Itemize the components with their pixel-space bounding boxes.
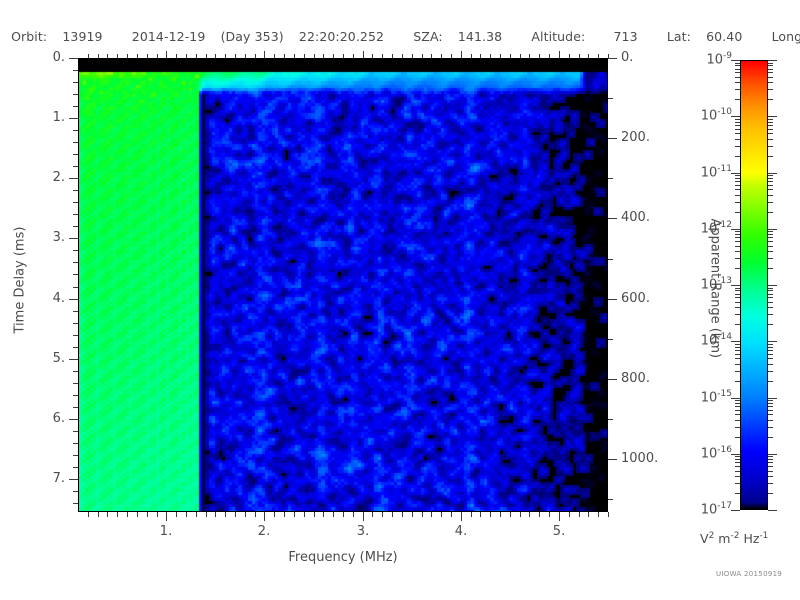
axis-tick — [137, 54, 138, 58]
colorbar-tick — [735, 483, 740, 484]
observation-time: 22:20:20.252 — [299, 29, 384, 44]
colorbar-tick — [768, 427, 773, 428]
axis-tick — [520, 512, 521, 517]
altitude-value: 713 — [613, 29, 637, 44]
axis-tick — [186, 512, 187, 517]
colorbar-tick — [768, 341, 777, 342]
axis-tick — [88, 54, 89, 58]
colorbar-tick — [768, 297, 773, 298]
axis-tick — [196, 512, 197, 517]
unit-meters-exponent: -2 — [730, 531, 739, 541]
colorbar-tick — [768, 466, 773, 467]
colorbar-tick — [768, 302, 773, 303]
colorbar-tick — [735, 175, 740, 176]
axis-tick — [353, 54, 354, 58]
colorbar-tick — [768, 156, 773, 157]
colorbar-tick — [768, 285, 777, 286]
colorbar-tick — [768, 258, 773, 259]
colorbar-tick — [735, 297, 740, 298]
axis-tick — [441, 54, 442, 58]
colorbar-tick — [768, 510, 777, 511]
colorbar-tick — [768, 290, 773, 291]
axis-tick — [264, 51, 265, 58]
colorbar-tick-label: 10-12 — [680, 220, 732, 236]
colorbar-tick — [735, 471, 740, 472]
axis-tick — [73, 311, 78, 312]
axis-tick — [510, 54, 511, 58]
colorbar-tick — [768, 462, 773, 463]
lat-value: 60.40 — [706, 29, 742, 44]
colorbar-tick — [768, 324, 773, 325]
axis-tick — [284, 54, 285, 58]
colorbar-tick — [731, 341, 740, 342]
colorbar-tick — [735, 314, 740, 315]
colorbar-mantissa: 10 — [701, 390, 718, 405]
colorbar-tick — [768, 212, 773, 213]
axis-tick — [73, 503, 78, 504]
colorbar-tick — [768, 358, 773, 359]
colorbar-tick — [768, 493, 773, 494]
axis-tick — [431, 54, 432, 58]
colorbar-tick — [735, 307, 740, 308]
axis-tick — [588, 54, 589, 58]
axis-tick — [69, 238, 78, 239]
colorbar-tick — [735, 288, 740, 289]
colorbar-tick — [735, 231, 740, 232]
axis-tick — [69, 479, 78, 480]
axis-tick — [98, 54, 99, 58]
colorbar-tick — [731, 60, 740, 61]
axis-tick — [510, 512, 511, 517]
axis-tick — [353, 512, 354, 517]
colorbar-tick-label: 10-16 — [680, 445, 732, 461]
colorbar-tick — [735, 63, 740, 64]
colorbar-tick — [735, 410, 740, 411]
observation-day-of-year: (Day 353) — [221, 29, 284, 44]
colorbar-tick — [768, 129, 773, 130]
colorbar-tick — [768, 476, 773, 477]
colorbar-tick — [735, 347, 740, 348]
colorbar-tick — [735, 358, 740, 359]
axis-tick — [73, 226, 78, 227]
long-label: Long: — [772, 29, 800, 44]
colorbar-tick — [768, 122, 773, 123]
colorbar-tick — [768, 251, 773, 252]
colorbar-tick — [768, 437, 773, 438]
axis-tick — [73, 383, 78, 384]
axis-tick — [73, 250, 78, 251]
axis-tick — [392, 54, 393, 58]
colorbar-mantissa: 10 — [701, 333, 718, 348]
colorbar-mantissa: 10 — [701, 502, 718, 517]
axis-tick — [235, 512, 236, 517]
axis-tick — [284, 512, 285, 517]
axis-tick — [451, 512, 452, 517]
figure-credit: UIOWA 20150919 — [716, 570, 782, 578]
axis-tick-label: 1. — [0, 110, 65, 125]
colorbar-tick — [735, 459, 740, 460]
axis-tick — [73, 82, 78, 83]
axis-tick — [323, 54, 324, 58]
axis-tick — [176, 54, 177, 58]
axis-tick — [588, 512, 589, 517]
axis-tick — [412, 54, 413, 58]
colorbar-tick — [735, 139, 740, 140]
colorbar-tick — [735, 185, 740, 186]
axis-tick — [608, 379, 617, 380]
metadata-header: Orbit: 13919 2014-12-19 (Day 353) 22:20:… — [0, 29, 800, 44]
colorbar-tick — [768, 139, 773, 140]
axis-tick — [255, 54, 256, 58]
colorbar-tick — [768, 414, 773, 415]
colorbar-tick — [768, 246, 773, 247]
axis-tick — [382, 54, 383, 58]
axis-tick — [245, 54, 246, 58]
ionogram-figure: Orbit: 13919 2014-12-19 (Day 353) 22:20:… — [0, 0, 800, 600]
axis-tick — [215, 54, 216, 58]
axis-tick — [73, 407, 78, 408]
axis-tick — [343, 54, 344, 58]
axis-tick — [539, 512, 540, 517]
axis-tick — [520, 54, 521, 58]
axis-tick — [559, 512, 560, 521]
axis-tick — [461, 51, 462, 58]
axis-tick — [69, 359, 78, 360]
axis-tick — [363, 51, 364, 58]
colorbar-tick — [735, 406, 740, 407]
axis-tick — [255, 512, 256, 517]
colorbar-tick — [768, 307, 773, 308]
axis-tick — [127, 512, 128, 517]
axis-tick-label: 2. — [253, 524, 275, 539]
axis-tick — [402, 54, 403, 58]
axis-tick-label: 3. — [0, 230, 65, 245]
colorbar-tick — [768, 125, 773, 126]
colorbar-tick — [735, 234, 740, 235]
axis-tick — [73, 274, 78, 275]
axis-tick-label: 600. — [621, 291, 650, 306]
axis-tick — [196, 54, 197, 58]
colorbar-tick — [735, 181, 740, 182]
colorbar-tick — [735, 82, 740, 83]
axis-tick — [549, 512, 550, 517]
colorbar-tick — [735, 364, 740, 365]
colorbar-tick — [768, 202, 773, 203]
colorbar-exponent: -14 — [717, 332, 732, 342]
axis-tick — [294, 512, 295, 517]
colorbar-tick — [735, 156, 740, 157]
colorbar-tick — [768, 354, 773, 355]
unit-hertz-exponent: -1 — [759, 531, 768, 541]
colorbar-tick — [731, 116, 740, 117]
axis-tick — [73, 323, 78, 324]
sza-label: SZA: — [413, 29, 442, 44]
axis-tick — [539, 54, 540, 58]
axis-tick — [323, 512, 324, 517]
colorbar-tick — [768, 347, 773, 348]
axis-tick — [73, 455, 78, 456]
axis-tick — [69, 419, 78, 420]
axis-tick — [559, 51, 560, 58]
axis-tick — [608, 499, 613, 500]
colorbar-tick — [735, 420, 740, 421]
colorbar-tick — [735, 195, 740, 196]
axis-tick — [608, 259, 613, 260]
colorbar-tick — [735, 466, 740, 467]
colorbar-tick — [768, 133, 773, 134]
colorbar-exponent: -10 — [717, 107, 732, 117]
colorbar-tick — [768, 400, 773, 401]
axis-tick — [107, 54, 108, 58]
axis-tick — [529, 54, 530, 58]
spectrogram-canvas — [79, 59, 608, 512]
axis-tick — [343, 512, 344, 517]
colorbar-tick — [768, 69, 773, 70]
colorbar-tick — [735, 371, 740, 372]
axis-tick — [176, 512, 177, 517]
unit-volts-exponent: 2 — [709, 531, 715, 541]
colorbar-exponent: -11 — [717, 164, 732, 174]
axis-tick — [500, 54, 501, 58]
colorbar-tick — [768, 364, 773, 365]
colorbar-tick — [768, 406, 773, 407]
colorbar-tick — [735, 302, 740, 303]
axis-tick-label: 5. — [0, 351, 65, 366]
colorbar-tick — [735, 354, 740, 355]
axis-tick — [73, 262, 78, 263]
axis-tick — [235, 54, 236, 58]
axis-tick — [294, 54, 295, 58]
colorbar-tick — [768, 65, 773, 66]
colorbar-tick — [735, 89, 740, 90]
axis-tick — [608, 339, 613, 340]
axis-tick — [73, 94, 78, 95]
axis-tick — [422, 54, 423, 58]
axis-tick-label: 400. — [621, 210, 650, 225]
colorbar-tick — [735, 119, 740, 120]
colorbar-exponent: -9 — [723, 51, 732, 61]
colorbar-tick-label: 10-15 — [680, 389, 732, 405]
colorbar-tick — [735, 72, 740, 73]
axis-tick — [500, 512, 501, 517]
colorbar-tick — [735, 476, 740, 477]
axis-tick — [107, 512, 108, 517]
axis-tick — [73, 287, 78, 288]
colorbar-tick — [768, 234, 773, 235]
axis-tick-label: 6. — [0, 411, 65, 426]
axis-tick — [117, 512, 118, 517]
axis-tick — [147, 54, 148, 58]
colorbar-tick — [735, 268, 740, 269]
colorbar-tick — [768, 181, 773, 182]
axis-tick — [441, 512, 442, 517]
axis-tick — [598, 54, 599, 58]
axis-tick — [245, 512, 246, 517]
axis-tick — [73, 202, 78, 203]
colorbar-tick — [735, 69, 740, 70]
colorbar-tick — [768, 231, 773, 232]
axis-tick — [73, 347, 78, 348]
axis-tick-label: 0. — [0, 50, 65, 65]
axis-tick — [608, 459, 617, 460]
colorbar-tick — [768, 116, 777, 117]
axis-tick-label: 2. — [0, 170, 65, 185]
axis-tick — [137, 512, 138, 517]
colorbar-tick — [735, 129, 740, 130]
colorbar-tick — [735, 237, 740, 238]
axis-tick — [117, 54, 118, 58]
axis-tick — [431, 512, 432, 517]
colorbar-exponent: -12 — [717, 220, 732, 230]
axis-tick-label: 5. — [548, 524, 570, 539]
unit-meters: m — [718, 531, 730, 546]
colorbar-tick — [768, 77, 773, 78]
axis-tick — [73, 443, 78, 444]
axis-tick — [206, 54, 207, 58]
colorbar-tick-label: 10-14 — [680, 332, 732, 348]
axis-tick — [147, 512, 148, 517]
axis-tick — [73, 166, 78, 167]
axis-tick-label: 1. — [155, 524, 177, 539]
axis-tick — [480, 54, 481, 58]
colorbar-mantissa: 10 — [701, 108, 718, 123]
colorbar-tick — [735, 212, 740, 213]
colorbar-tick — [768, 456, 773, 457]
axis-tick — [471, 54, 472, 58]
colorbar-tick — [768, 403, 773, 404]
colorbar-tick — [735, 122, 740, 123]
colorbar-tick — [768, 99, 773, 100]
axis-tick-label: 0. — [621, 50, 633, 65]
colorbar-tick — [768, 459, 773, 460]
colorbar-tick — [768, 471, 773, 472]
colorbar-unit-label: V2 m-2 Hz-1 — [700, 531, 768, 546]
axis-tick — [598, 512, 599, 517]
colorbar-tick — [735, 125, 740, 126]
colorbar-tick — [768, 146, 773, 147]
colorbar-tick — [768, 119, 773, 120]
axis-tick — [73, 395, 78, 396]
axis-tick — [264, 512, 265, 521]
axis-tick — [314, 54, 315, 58]
axis-tick — [490, 512, 491, 517]
colorbar-tick — [735, 437, 740, 438]
colorbar-tick — [735, 146, 740, 147]
axis-tick — [314, 512, 315, 517]
colorbar-tick — [735, 241, 740, 242]
intensity-colorbar[interactable] — [740, 60, 768, 510]
axis-tick-label: 200. — [621, 130, 650, 145]
sza-value: 141.38 — [458, 29, 502, 44]
colorbar-tick — [768, 189, 773, 190]
colorbar-tick — [768, 237, 773, 238]
colorbar-exponent: -16 — [717, 445, 732, 455]
colorbar-tick — [735, 246, 740, 247]
colorbar-tick — [735, 189, 740, 190]
axis-tick — [274, 512, 275, 517]
observation-date: 2014-12-19 — [132, 29, 206, 44]
axis-tick — [225, 512, 226, 517]
axis-tick — [73, 106, 78, 107]
orbit-value: 13919 — [62, 29, 102, 44]
axis-tick — [372, 54, 373, 58]
colorbar-tick — [768, 82, 773, 83]
axis-tick — [73, 190, 78, 191]
axis-tick — [166, 51, 167, 58]
axis-tick — [98, 512, 99, 517]
colorbar-tick — [735, 99, 740, 100]
axis-tick — [73, 154, 78, 155]
axis-tick — [579, 54, 580, 58]
colorbar-tick — [768, 371, 773, 372]
colorbar-tick-label: 10-13 — [680, 276, 732, 292]
axis-tick — [549, 54, 550, 58]
axis-tick — [157, 512, 158, 517]
unit-hertz: Hz — [743, 531, 759, 546]
colorbar-tick — [768, 185, 773, 186]
colorbar-tick — [768, 72, 773, 73]
axis-tick — [215, 512, 216, 517]
axis-tick — [608, 138, 617, 139]
colorbar-tick — [735, 381, 740, 382]
colorbar-tick — [735, 493, 740, 494]
axis-tick — [608, 419, 613, 420]
axis-tick — [608, 218, 617, 219]
colorbar-tick — [768, 195, 773, 196]
colorbar-tick — [768, 288, 773, 289]
colorbar-mantissa: 10 — [701, 277, 718, 292]
axis-tick — [402, 512, 403, 517]
lat-label: Lat: — [667, 29, 691, 44]
colorbar-tick — [735, 350, 740, 351]
colorbar-tick — [735, 133, 740, 134]
colorbar-exponent: -17 — [717, 501, 732, 511]
colorbar-tick — [768, 89, 773, 90]
axis-tick-label: 1000. — [621, 451, 658, 466]
axis-tick — [451, 54, 452, 58]
axis-tick — [382, 512, 383, 517]
axis-tick — [73, 70, 78, 71]
axis-tick — [206, 512, 207, 517]
colorbar-tick — [735, 456, 740, 457]
axis-tick — [127, 54, 128, 58]
axis-tick — [412, 512, 413, 517]
colorbar-tick — [768, 60, 777, 61]
axis-tick — [392, 512, 393, 517]
axis-tick-label: 7. — [0, 471, 65, 486]
colorbar-tick — [735, 178, 740, 179]
colorbar-tick-label: 10-11 — [680, 164, 732, 180]
colorbar-tick — [735, 344, 740, 345]
axis-tick — [166, 512, 167, 521]
colorbar-tick — [768, 294, 773, 295]
colorbar-tick-label: 10-17 — [680, 501, 732, 517]
altitude-label: Altitude: — [531, 29, 585, 44]
colorbar-tick — [731, 285, 740, 286]
colorbar-mantissa: 10 — [701, 221, 718, 236]
x-axis-title: Frequency (MHz) — [78, 550, 608, 565]
colorbar-tick — [768, 314, 773, 315]
colorbar-tick — [768, 420, 773, 421]
axis-tick — [333, 512, 334, 517]
spectrogram-plot-area[interactable] — [78, 58, 608, 512]
axis-tick — [608, 58, 617, 59]
axis-tick — [422, 512, 423, 517]
axis-tick-label: 4. — [450, 524, 472, 539]
axis-tick — [73, 467, 78, 468]
colorbar-tick — [768, 63, 773, 64]
colorbar-mantissa: 10 — [701, 165, 718, 180]
